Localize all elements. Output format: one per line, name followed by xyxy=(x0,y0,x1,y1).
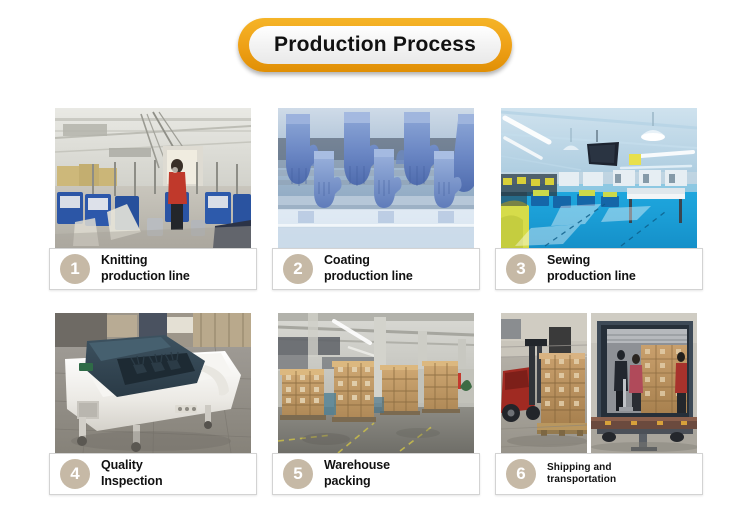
step-label-line1: Coating xyxy=(324,253,370,267)
step-label: Coating production line xyxy=(324,253,413,284)
step-number-badge: 4 xyxy=(60,459,90,489)
process-steps-grid: 1 Knitting production line xyxy=(46,98,706,503)
process-step-card: 2 Coating production line xyxy=(269,98,483,298)
step-number-badge: 1 xyxy=(60,254,90,284)
step-label-line2: transportation xyxy=(547,474,616,487)
process-step-card: 4 Quality Inspection xyxy=(46,303,260,503)
page-title: Production Process xyxy=(274,33,476,57)
step-label: Quality Inspection xyxy=(101,458,163,489)
process-step-card: 1 Knitting production line xyxy=(46,98,260,298)
header: Production Process xyxy=(0,14,750,76)
warehouse-packing-photo xyxy=(278,313,474,453)
step-label-line2: production line xyxy=(547,269,636,285)
step-label-line1: Shipping and xyxy=(547,462,612,473)
step-label: Warehouse packing xyxy=(324,458,390,489)
step-number-badge: 6 xyxy=(506,459,536,489)
step-label-bar: 5 Warehouse packing xyxy=(272,453,480,495)
header-banner-inner: Production Process xyxy=(249,26,501,64)
header-banner: Production Process xyxy=(238,18,512,72)
step-label-bar: 2 Coating production line xyxy=(272,248,480,290)
step-label-line2: packing xyxy=(324,474,390,490)
step-label: Sewing production line xyxy=(547,253,636,284)
step-number-badge: 3 xyxy=(506,254,536,284)
quality-inspection-photo xyxy=(55,313,251,453)
shipping-transportation-photo xyxy=(501,313,697,453)
step-label: Shipping and transportation xyxy=(547,462,616,487)
sewing-production-line-photo xyxy=(501,108,697,248)
step-label-line1: Knitting xyxy=(101,253,147,267)
step-label-line1: Quality xyxy=(101,458,143,472)
step-label: Knitting production line xyxy=(101,253,190,284)
step-label-line2: Inspection xyxy=(101,474,163,490)
step-label-line2: production line xyxy=(324,269,413,285)
process-step-card: 5 Warehouse packing xyxy=(269,303,483,503)
step-label-bar: 6 Shipping and transportation xyxy=(495,453,703,495)
step-label-line1: Sewing xyxy=(547,253,590,267)
step-label-bar: 4 Quality Inspection xyxy=(49,453,257,495)
step-label-line1: Warehouse xyxy=(324,458,390,472)
step-number-badge: 2 xyxy=(283,254,313,284)
step-label-line2: production line xyxy=(101,269,190,285)
process-step-card: 3 Sewing production line xyxy=(492,98,706,298)
knitting-production-line-photo xyxy=(55,108,251,248)
production-process-page: Production Process xyxy=(0,0,750,525)
step-label-bar: 1 Knitting production line xyxy=(49,248,257,290)
process-step-card: 6 Shipping and transportation xyxy=(492,303,706,503)
coating-production-line-photo xyxy=(278,108,474,248)
step-label-bar: 3 Sewing production line xyxy=(495,248,703,290)
step-number-badge: 5 xyxy=(283,459,313,489)
